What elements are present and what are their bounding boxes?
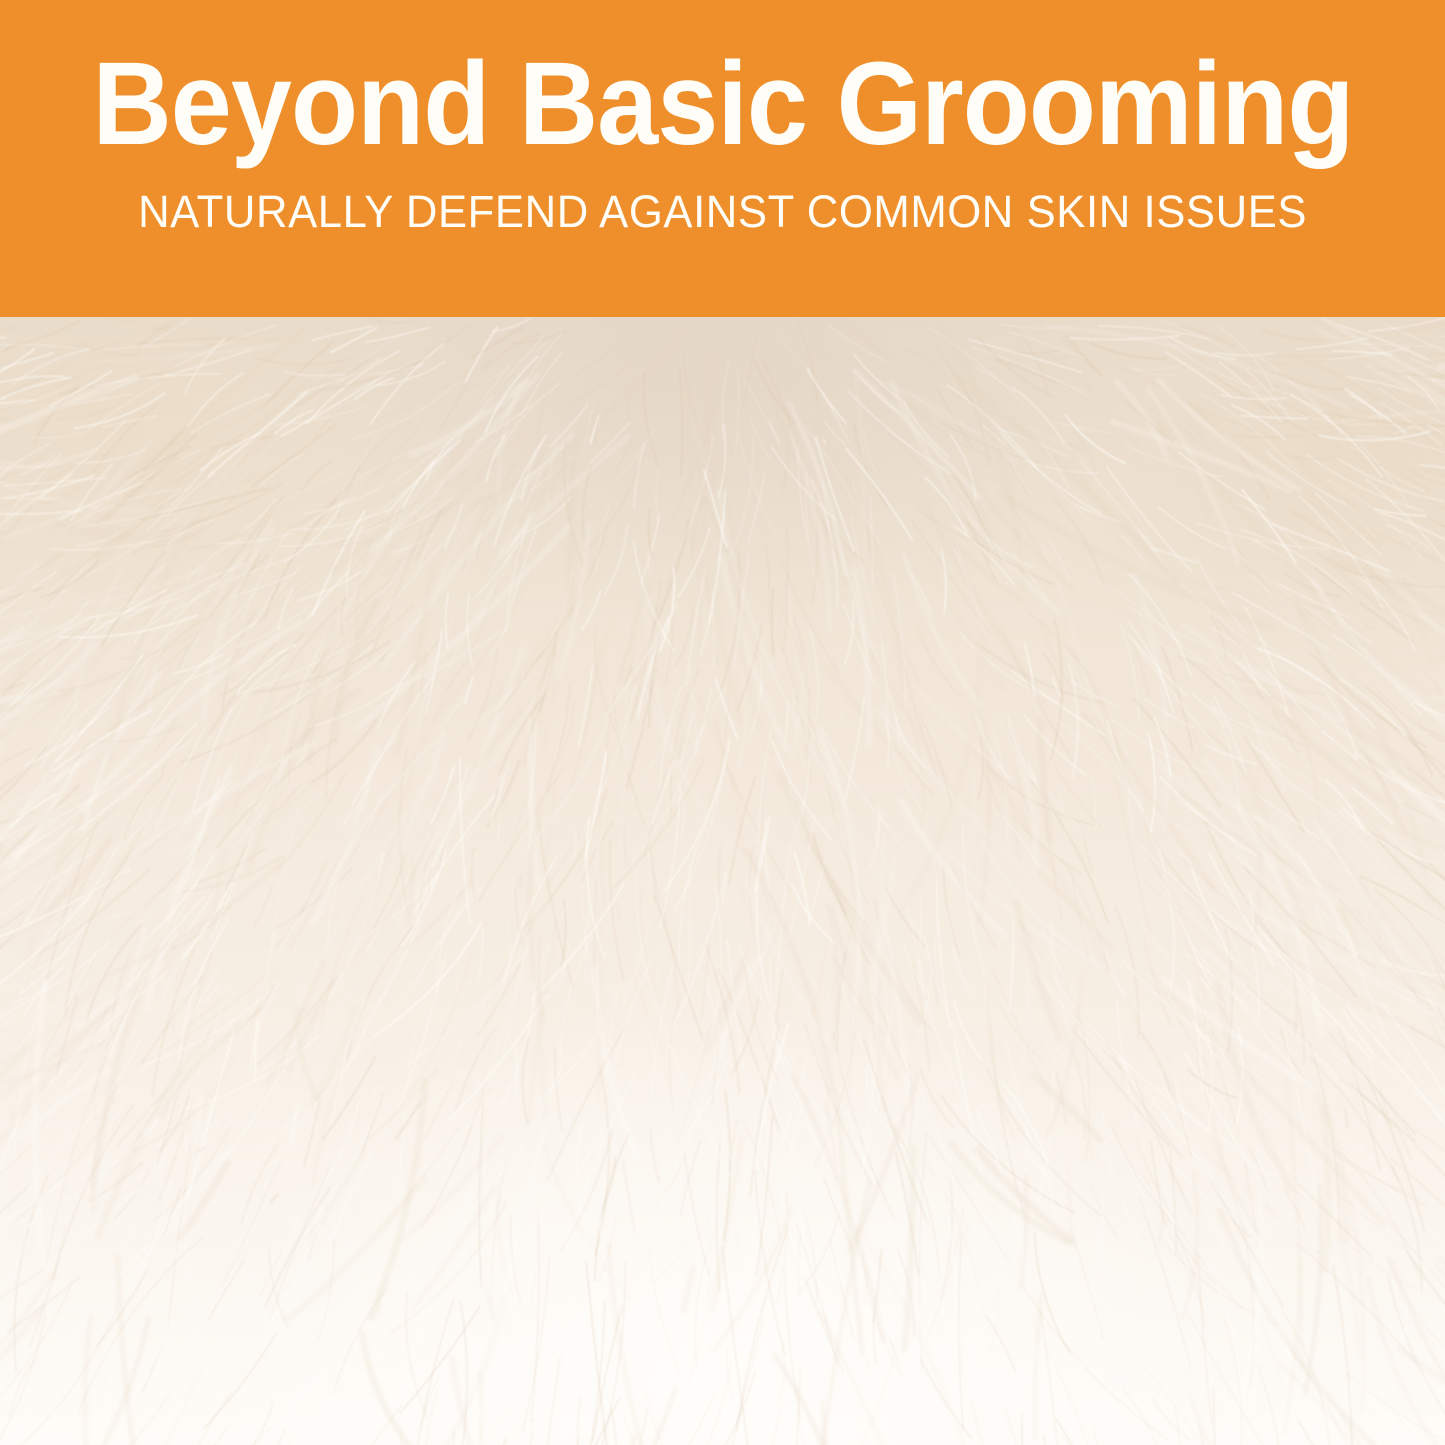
skin-issue-grid: ITCHING	[0, 0, 1445, 1445]
skin-issue-item-odor[interactable]: ODOR	[804, 975, 1204, 1353]
dog-dandruff-icon	[888, 505, 1120, 737]
skin-issue-item-irritation[interactable]: IRRITATION	[250, 975, 650, 1353]
dog-scratching-icon	[335, 506, 565, 736]
icon-circle-dryness	[862, 478, 1147, 763]
dog-odor-icon	[887, 1001, 1121, 1235]
icon-label-dryness: DRYNESS	[804, 789, 1204, 854]
product-infographic: Beyond Basic Grooming NATURALLY DEFEND A…	[0, 0, 1445, 1445]
icon-circle-itching	[308, 478, 593, 763]
skin-issue-item-itching[interactable]: ITCHING	[250, 478, 650, 854]
icon-label-odor: ODOR	[804, 1288, 1204, 1353]
icon-circle-odor	[862, 975, 1147, 1260]
skin-issue-item-dryness[interactable]: DRYNESS	[804, 478, 1204, 854]
icon-label-itching: ITCHING	[250, 789, 650, 854]
icon-circle-irritation	[308, 975, 593, 1260]
icon-label-irritation: IRRITATION	[250, 1288, 650, 1353]
dog-irritated-skin-icon	[335, 1003, 565, 1233]
